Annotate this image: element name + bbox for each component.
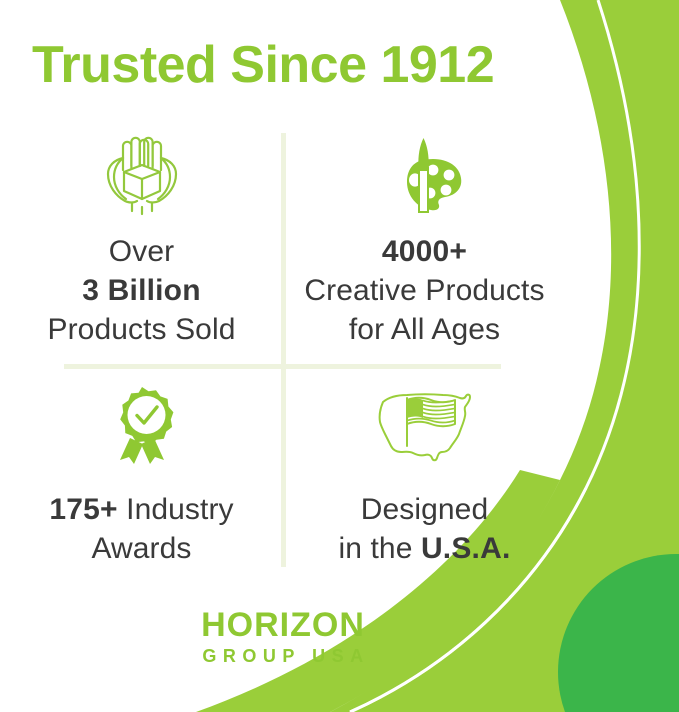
rosette-face: [127, 396, 165, 434]
page-title: Trusted Since 1912: [32, 36, 592, 94]
feature-item-products-sold: Over 3 Billion Products Sold: [0, 130, 283, 349]
brush-ferrule: [418, 166, 429, 171]
brush-handle: [419, 168, 428, 212]
award-ribbon-check-icon: [92, 382, 192, 468]
feature-text-products-sold: Over 3 Billion Products Sold: [47, 232, 235, 349]
stat-line-2: Creative Products: [304, 271, 544, 310]
stat-line-1-rest: Industry: [118, 493, 234, 526]
flag-canton: [407, 399, 423, 419]
feature-text-designed-in-usa: Designed in the U.S.A.: [339, 490, 511, 568]
stat-line-1: Over: [47, 232, 235, 271]
stat-line-2-bold: U.S.A.: [421, 532, 511, 565]
feature-grid: Over 3 Billion Products Sold: [0, 126, 566, 572]
brand-logo: HORIZON GROUP USA: [0, 608, 566, 667]
feature-item-designed-in-usa: Designed in the U.S.A.: [283, 382, 566, 568]
marketing-infographic: Trusted Since 1912: [0, 0, 679, 712]
stat-line-2-prefix: in the: [339, 532, 421, 565]
stat-line-2-bold: 3 Billion: [82, 274, 200, 307]
stat-line-3: for All Ages: [304, 310, 544, 349]
palette-well-3: [440, 185, 451, 196]
swoosh-accent-circle: [558, 554, 679, 712]
logo-tagline: GROUP USA: [0, 645, 566, 667]
feature-item-creative-products: 4000+ Creative Products for All Ages: [283, 130, 566, 349]
hands-holding-box-icon: [92, 130, 192, 216]
brush-tip: [418, 138, 428, 166]
stat-line-1: Designed: [339, 490, 511, 529]
feature-text-industry-awards: 175+ Industry Awards: [49, 490, 233, 568]
palette-well-1: [427, 165, 438, 176]
feature-item-industry-awards: 175+ Industry Awards: [0, 382, 283, 568]
feature-text-creative-products: 4000+ Creative Products for All Ages: [304, 232, 544, 349]
paint-palette-brush-icon: [375, 130, 475, 216]
stat-line-1-bold: 175+: [49, 493, 117, 526]
grid-divider-horizontal: [64, 364, 501, 369]
stat-line-1-bold: 4000+: [382, 235, 467, 268]
logo-wordmark: HORIZON: [0, 608, 566, 642]
stat-line-3: Products Sold: [47, 310, 235, 349]
usa-map-flag-icon: [365, 382, 485, 468]
usa-map-outline: [379, 394, 469, 460]
stat-line-2: Awards: [49, 529, 233, 568]
palette-well-2: [443, 170, 454, 181]
